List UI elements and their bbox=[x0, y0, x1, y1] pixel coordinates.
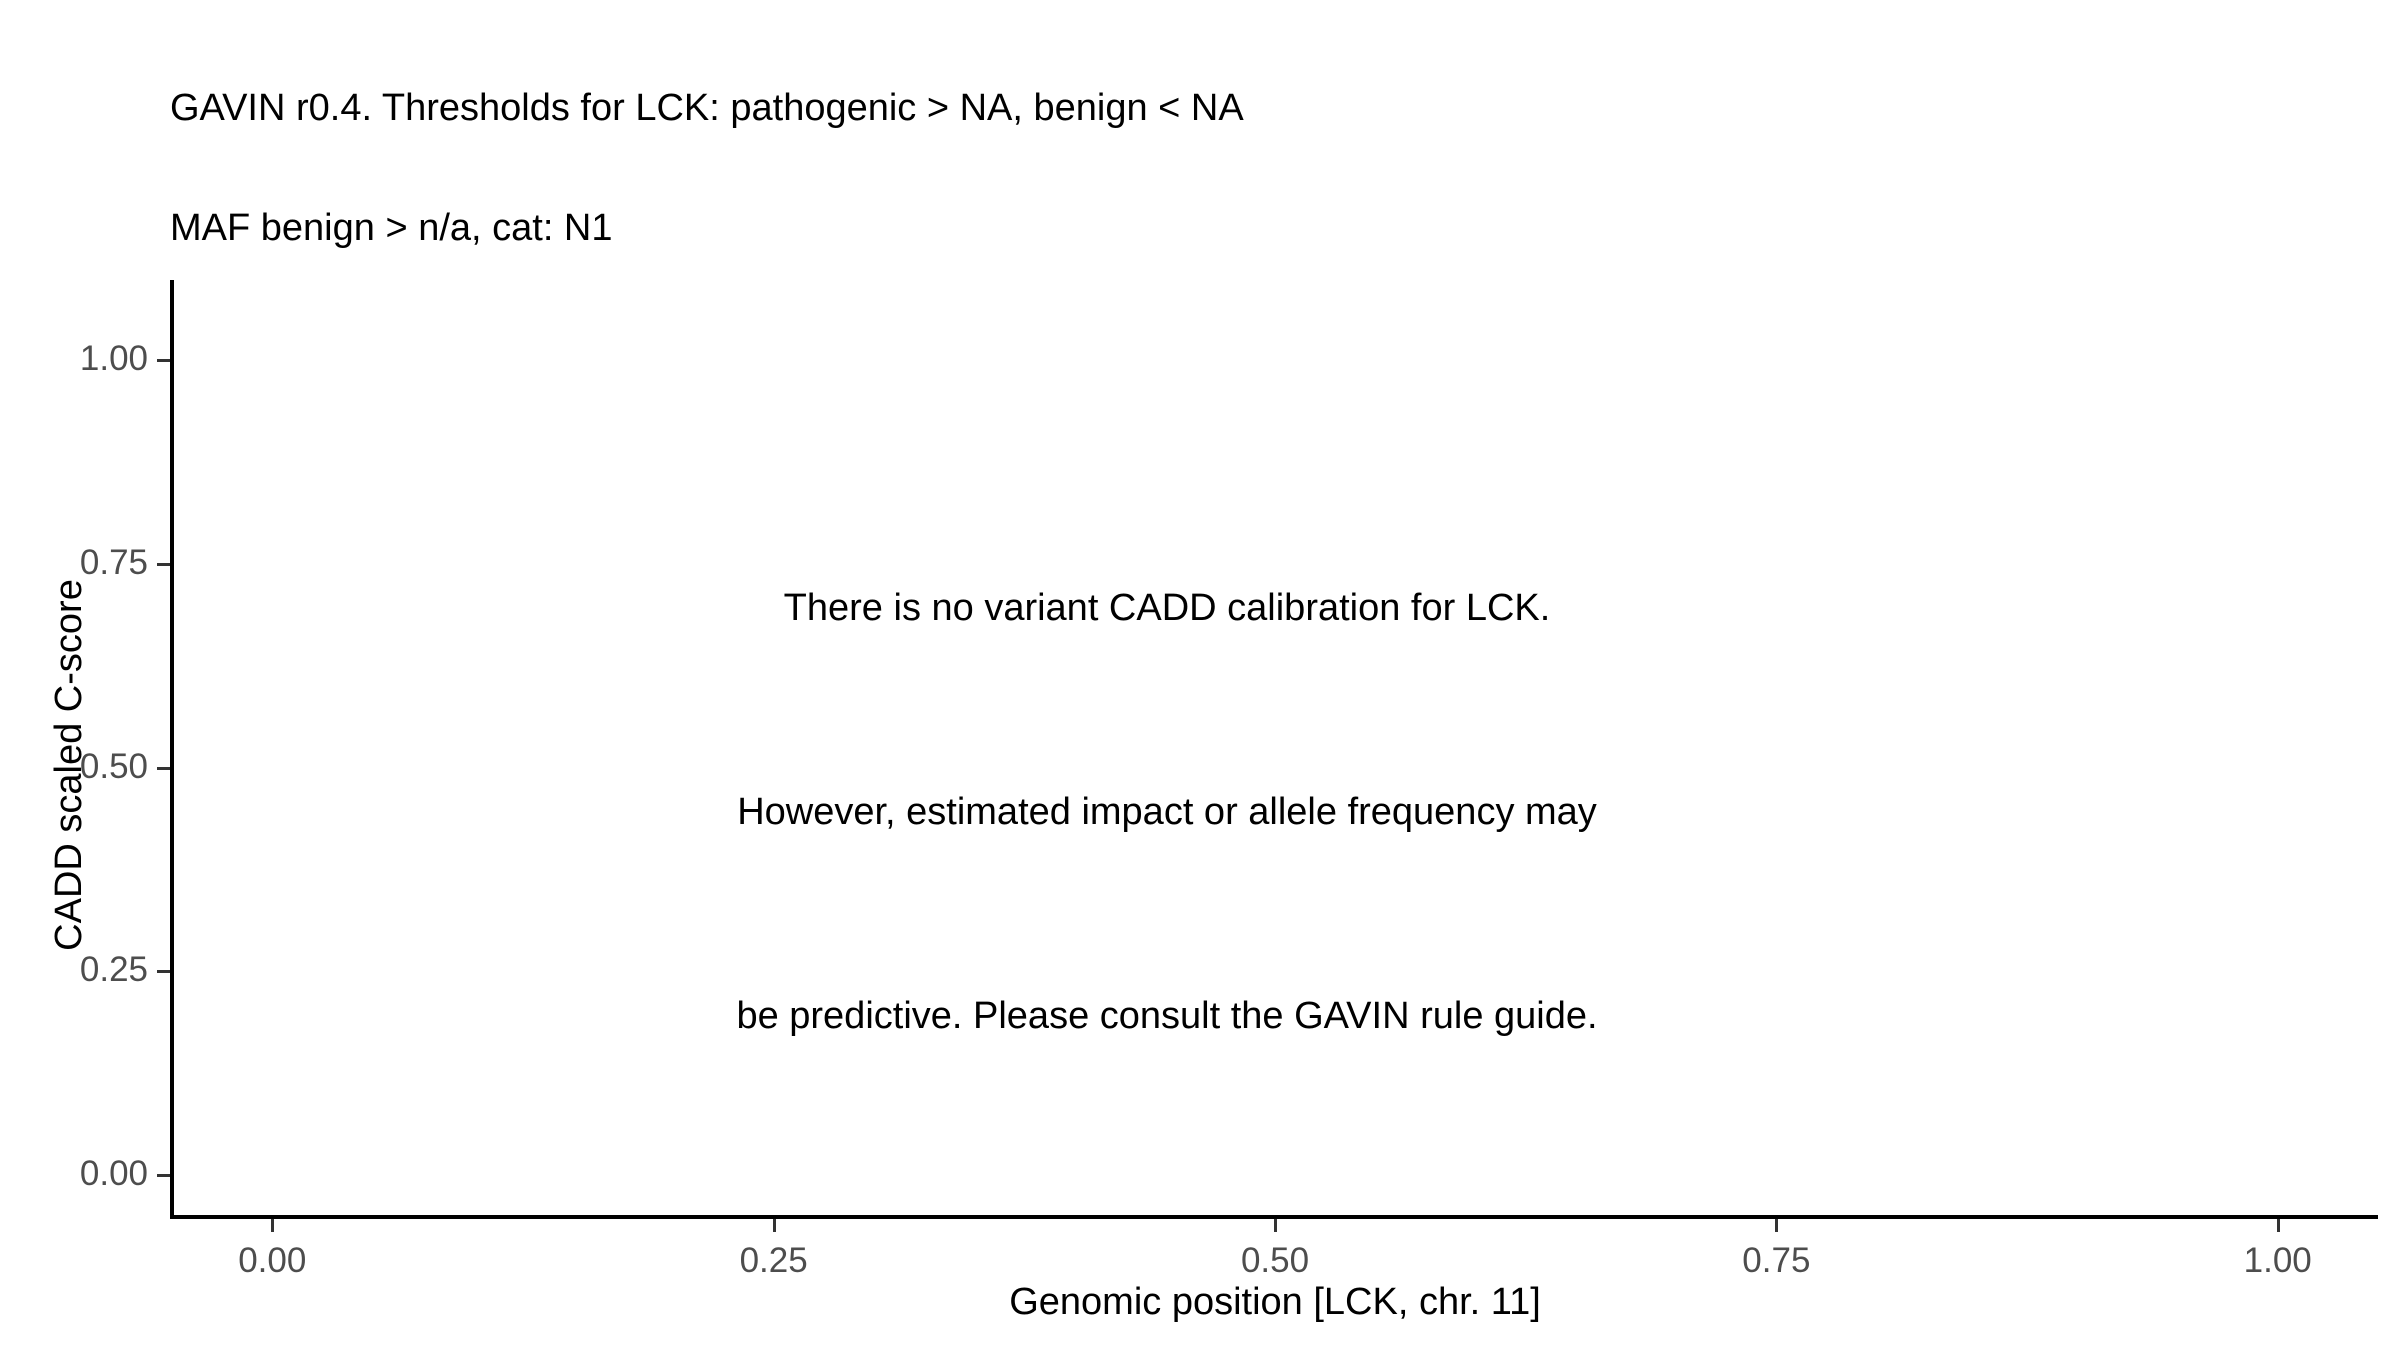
y-axis-tick-label: 0.50 bbox=[18, 745, 148, 789]
x-axis-tick-label: 0.25 bbox=[664, 1239, 884, 1283]
x-axis-tick-mark bbox=[773, 1219, 776, 1232]
x-axis-tick-label: 0.00 bbox=[162, 1239, 382, 1283]
y-axis-tick-mark bbox=[157, 970, 170, 973]
empty-state-message: There is no variant CADD calibration for… bbox=[172, 438, 2162, 1186]
y-axis-tick-mark bbox=[157, 1174, 170, 1177]
x-axis-tick-mark bbox=[1274, 1219, 1277, 1232]
y-axis-line bbox=[170, 280, 174, 1219]
y-axis-tick-label: 0.00 bbox=[18, 1152, 148, 1196]
x-axis-tick-mark bbox=[1775, 1219, 1778, 1232]
x-axis-tick-label: 0.75 bbox=[1666, 1239, 1886, 1283]
y-axis-tick-mark bbox=[157, 359, 170, 362]
y-axis-tick-label: 1.00 bbox=[18, 337, 148, 381]
y-axis-tick-label: 0.75 bbox=[18, 541, 148, 585]
chart-title-line-1: GAVIN r0.4. Thresholds for LCK: pathogen… bbox=[170, 88, 2290, 128]
x-axis-tick-mark bbox=[2277, 1219, 2280, 1232]
empty-state-message-line-3: be predictive. Please consult the GAVIN … bbox=[172, 982, 2162, 1050]
x-axis-tick-mark bbox=[271, 1219, 274, 1232]
x-axis-label: Genomic position [LCK, chr. 11] bbox=[172, 1280, 2378, 1324]
empty-state-message-line-2: However, estimated impact or allele freq… bbox=[172, 778, 2162, 846]
y-axis-tick-mark bbox=[157, 563, 170, 566]
plot-figure: GAVIN r0.4. Thresholds for LCK: pathogen… bbox=[0, 0, 2400, 1350]
chart-title-line-2: MAF benign > n/a, cat: N1 bbox=[170, 208, 2290, 248]
plot-panel: There is no variant CADD calibration for… bbox=[172, 280, 2378, 1215]
y-axis-tick-label: 0.25 bbox=[18, 948, 148, 992]
x-axis-tick-label: 0.50 bbox=[1165, 1239, 1385, 1283]
y-axis-tick-mark bbox=[157, 767, 170, 770]
empty-state-message-line-1: There is no variant CADD calibration for… bbox=[172, 574, 2162, 642]
x-axis-tick-label: 1.00 bbox=[2168, 1239, 2388, 1283]
